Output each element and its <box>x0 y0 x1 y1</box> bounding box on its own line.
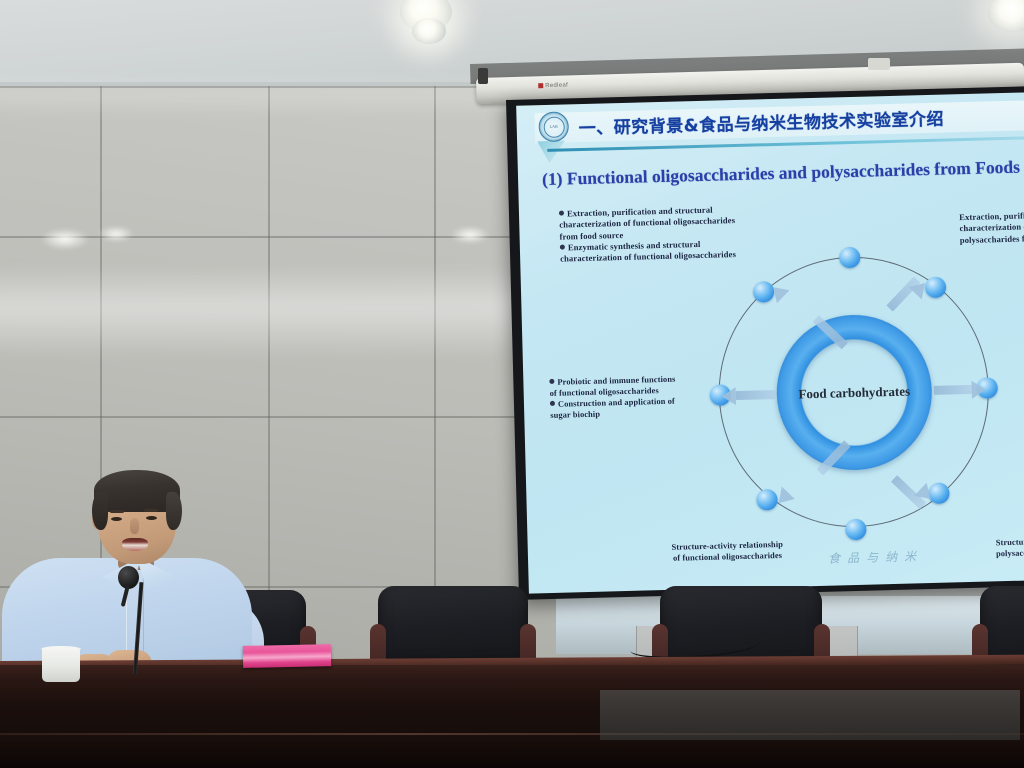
speaker-hair-side <box>92 492 108 530</box>
slide-subtitle: (1) Functional oligosaccharides and poly… <box>542 157 1020 191</box>
slide-watermark: 食品与纳米 <box>828 545 1019 572</box>
speaker-nose <box>130 518 139 534</box>
speaker-brow <box>110 510 124 513</box>
paper-cup <box>42 648 80 682</box>
housing-bracket <box>478 68 488 84</box>
housing-bracket <box>868 58 890 70</box>
bullet-icon <box>560 245 565 250</box>
diagram-arrow-head <box>722 387 736 405</box>
diagram-arrow <box>934 385 974 395</box>
conference-room-photo: Redleaf LAB 一、研究背景&食品与纳米生物技术实验室介绍 (1) Fu… <box>0 0 1024 768</box>
presentation-slide: LAB 一、研究背景&食品与纳米生物技术实验室介绍 (1) Functional… <box>516 92 1024 594</box>
carbohydrate-diagram: Food carbohydrates <box>690 242 1024 551</box>
diagram-arrow-head <box>972 381 986 399</box>
table-panel <box>600 690 1020 740</box>
projector-brand-label: Redleaf <box>538 82 568 89</box>
speaker-hair-side <box>166 492 182 530</box>
pink-folder <box>243 644 331 668</box>
diagram-arrow <box>736 390 776 400</box>
speaker-mouth <box>122 538 148 551</box>
bullet-icon <box>550 401 555 406</box>
projection-screen: LAB 一、研究背景&食品与纳米生物技术实验室介绍 (1) Functional… <box>506 86 1024 600</box>
bullet-icon <box>559 211 564 216</box>
speaker-eye <box>146 516 157 520</box>
bullet-icon <box>549 379 554 384</box>
slide-header: LAB 一、研究背景&食品与纳米生物技术实验室介绍 <box>516 92 1024 160</box>
slide-block-top-right: Extraction, purific characterization o p… <box>959 209 1024 246</box>
speaker-brow <box>144 509 158 512</box>
diagram-node <box>845 519 867 541</box>
speaker-eye <box>111 517 122 521</box>
diagram-center-label: Food carbohydrates <box>798 383 910 402</box>
ceiling-light <box>412 18 446 44</box>
